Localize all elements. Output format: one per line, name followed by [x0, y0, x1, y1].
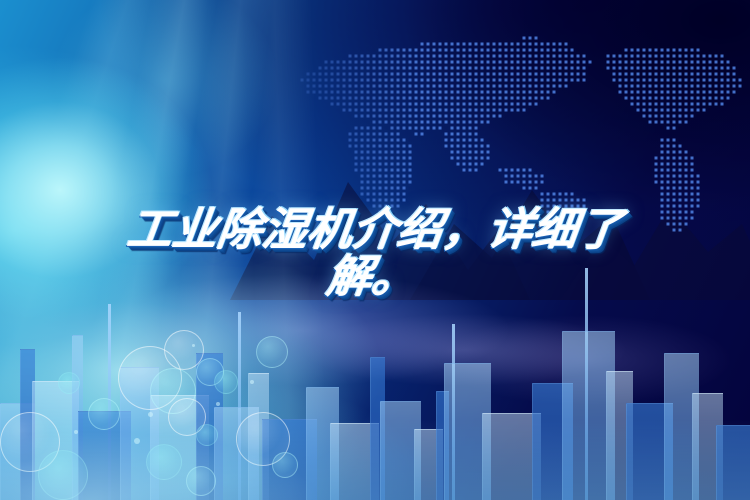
bokeh-bubble: [150, 368, 196, 414]
bokeh-bubble: [164, 330, 204, 370]
skyline-building: [248, 373, 269, 500]
headline-line-1: 工业除湿机介绍，详细了: [0, 206, 750, 253]
skyline-building: [196, 353, 223, 500]
building-spire: [238, 312, 241, 500]
skyline-building: [72, 335, 83, 500]
bokeh-bubble: [214, 370, 238, 394]
skyline-building: [606, 371, 633, 500]
building-spire: [452, 324, 455, 500]
bokeh-dot: [250, 380, 254, 384]
promo-banner: 工业除湿机介绍，详细了 解。: [0, 0, 750, 500]
skyline-building: [436, 391, 449, 500]
skyline-building: [664, 353, 699, 500]
bokeh-bubble: [38, 450, 88, 500]
skyline-building: [370, 357, 385, 500]
skyline-building: [262, 419, 317, 500]
bokeh-dot: [74, 430, 78, 434]
skyline-building: [78, 411, 131, 500]
bokeh-dot: [216, 402, 220, 406]
bokeh-bubble: [196, 358, 224, 386]
bokeh-bubble: [256, 336, 288, 368]
skyline-building: [214, 407, 259, 500]
skyline-building: [306, 387, 339, 500]
bokeh-bubble: [88, 398, 120, 430]
skyline-building: [692, 393, 723, 500]
skyline-building: [562, 331, 615, 500]
skyline-building: [716, 425, 750, 500]
bokeh-bubble: [168, 398, 206, 436]
bokeh-bubble: [236, 412, 290, 466]
bokeh-bubble: [146, 444, 182, 480]
skyline-building: [150, 395, 209, 500]
bokeh-bubble: [0, 412, 60, 472]
skyline-building: [20, 349, 35, 500]
skyline-building: [414, 429, 443, 500]
bokeh-dot: [192, 344, 195, 347]
skyline-building: [0, 403, 35, 500]
skyline-building: [532, 383, 573, 500]
building-spire: [585, 268, 588, 500]
skyline-building: [380, 401, 421, 500]
bokeh-bubble: [272, 452, 298, 478]
headline: 工业除湿机介绍，详细了 解。: [0, 206, 750, 300]
skyline-building: [330, 423, 379, 500]
skyline-building: [444, 363, 491, 500]
bokeh-bubble: [196, 424, 218, 446]
skyline-building: [482, 413, 541, 500]
bokeh-bubble: [118, 346, 182, 410]
skyline-building: [32, 381, 79, 500]
bokeh-dot: [134, 438, 140, 444]
skyline-building: [626, 403, 673, 500]
bokeh-bubble: [58, 372, 80, 394]
headline-line-2: 解。: [0, 253, 750, 300]
bokeh-dot: [148, 412, 153, 417]
skyline-building: [120, 367, 159, 500]
building-spire: [108, 304, 111, 500]
bokeh-bubble: [186, 466, 216, 496]
